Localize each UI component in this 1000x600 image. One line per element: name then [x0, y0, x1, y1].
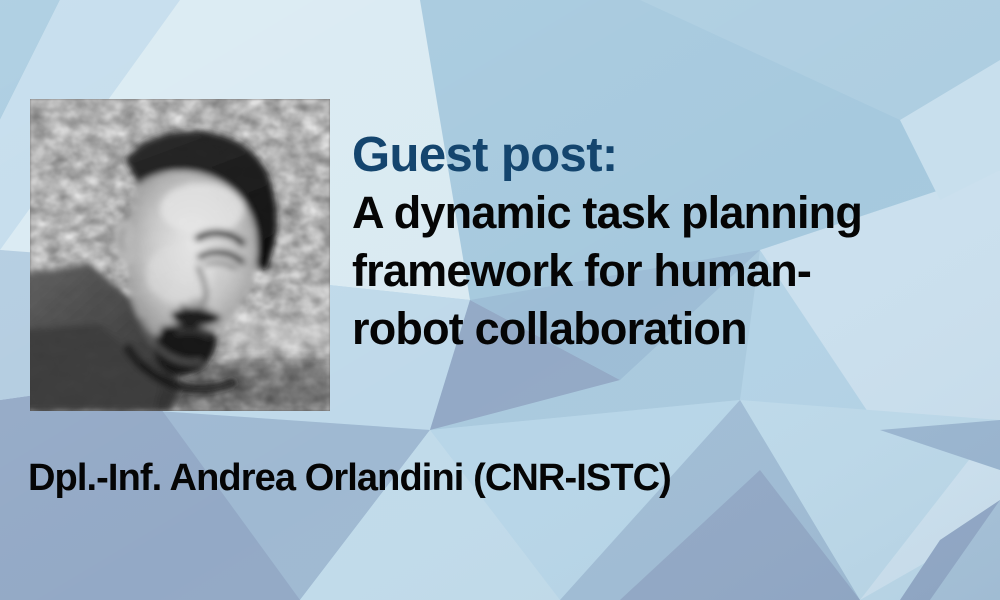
headline-kicker: Guest post: [352, 126, 972, 184]
portrait-image [30, 99, 330, 411]
headline-title-line-3: robot collaboration [352, 300, 952, 358]
headline-title-line-2: framework for human- [352, 242, 952, 300]
author-byline: Dpl.-Inf. Andrea Orlandini (CNR-ISTC) [28, 455, 671, 501]
guest-post-banner: Guest post: A dynamic task planning fram… [0, 0, 1000, 600]
headline-title-line-1: A dynamic task planning [352, 184, 952, 242]
author-portrait-photo [30, 99, 330, 411]
headline-block: Guest post: A dynamic task planning fram… [352, 126, 972, 358]
